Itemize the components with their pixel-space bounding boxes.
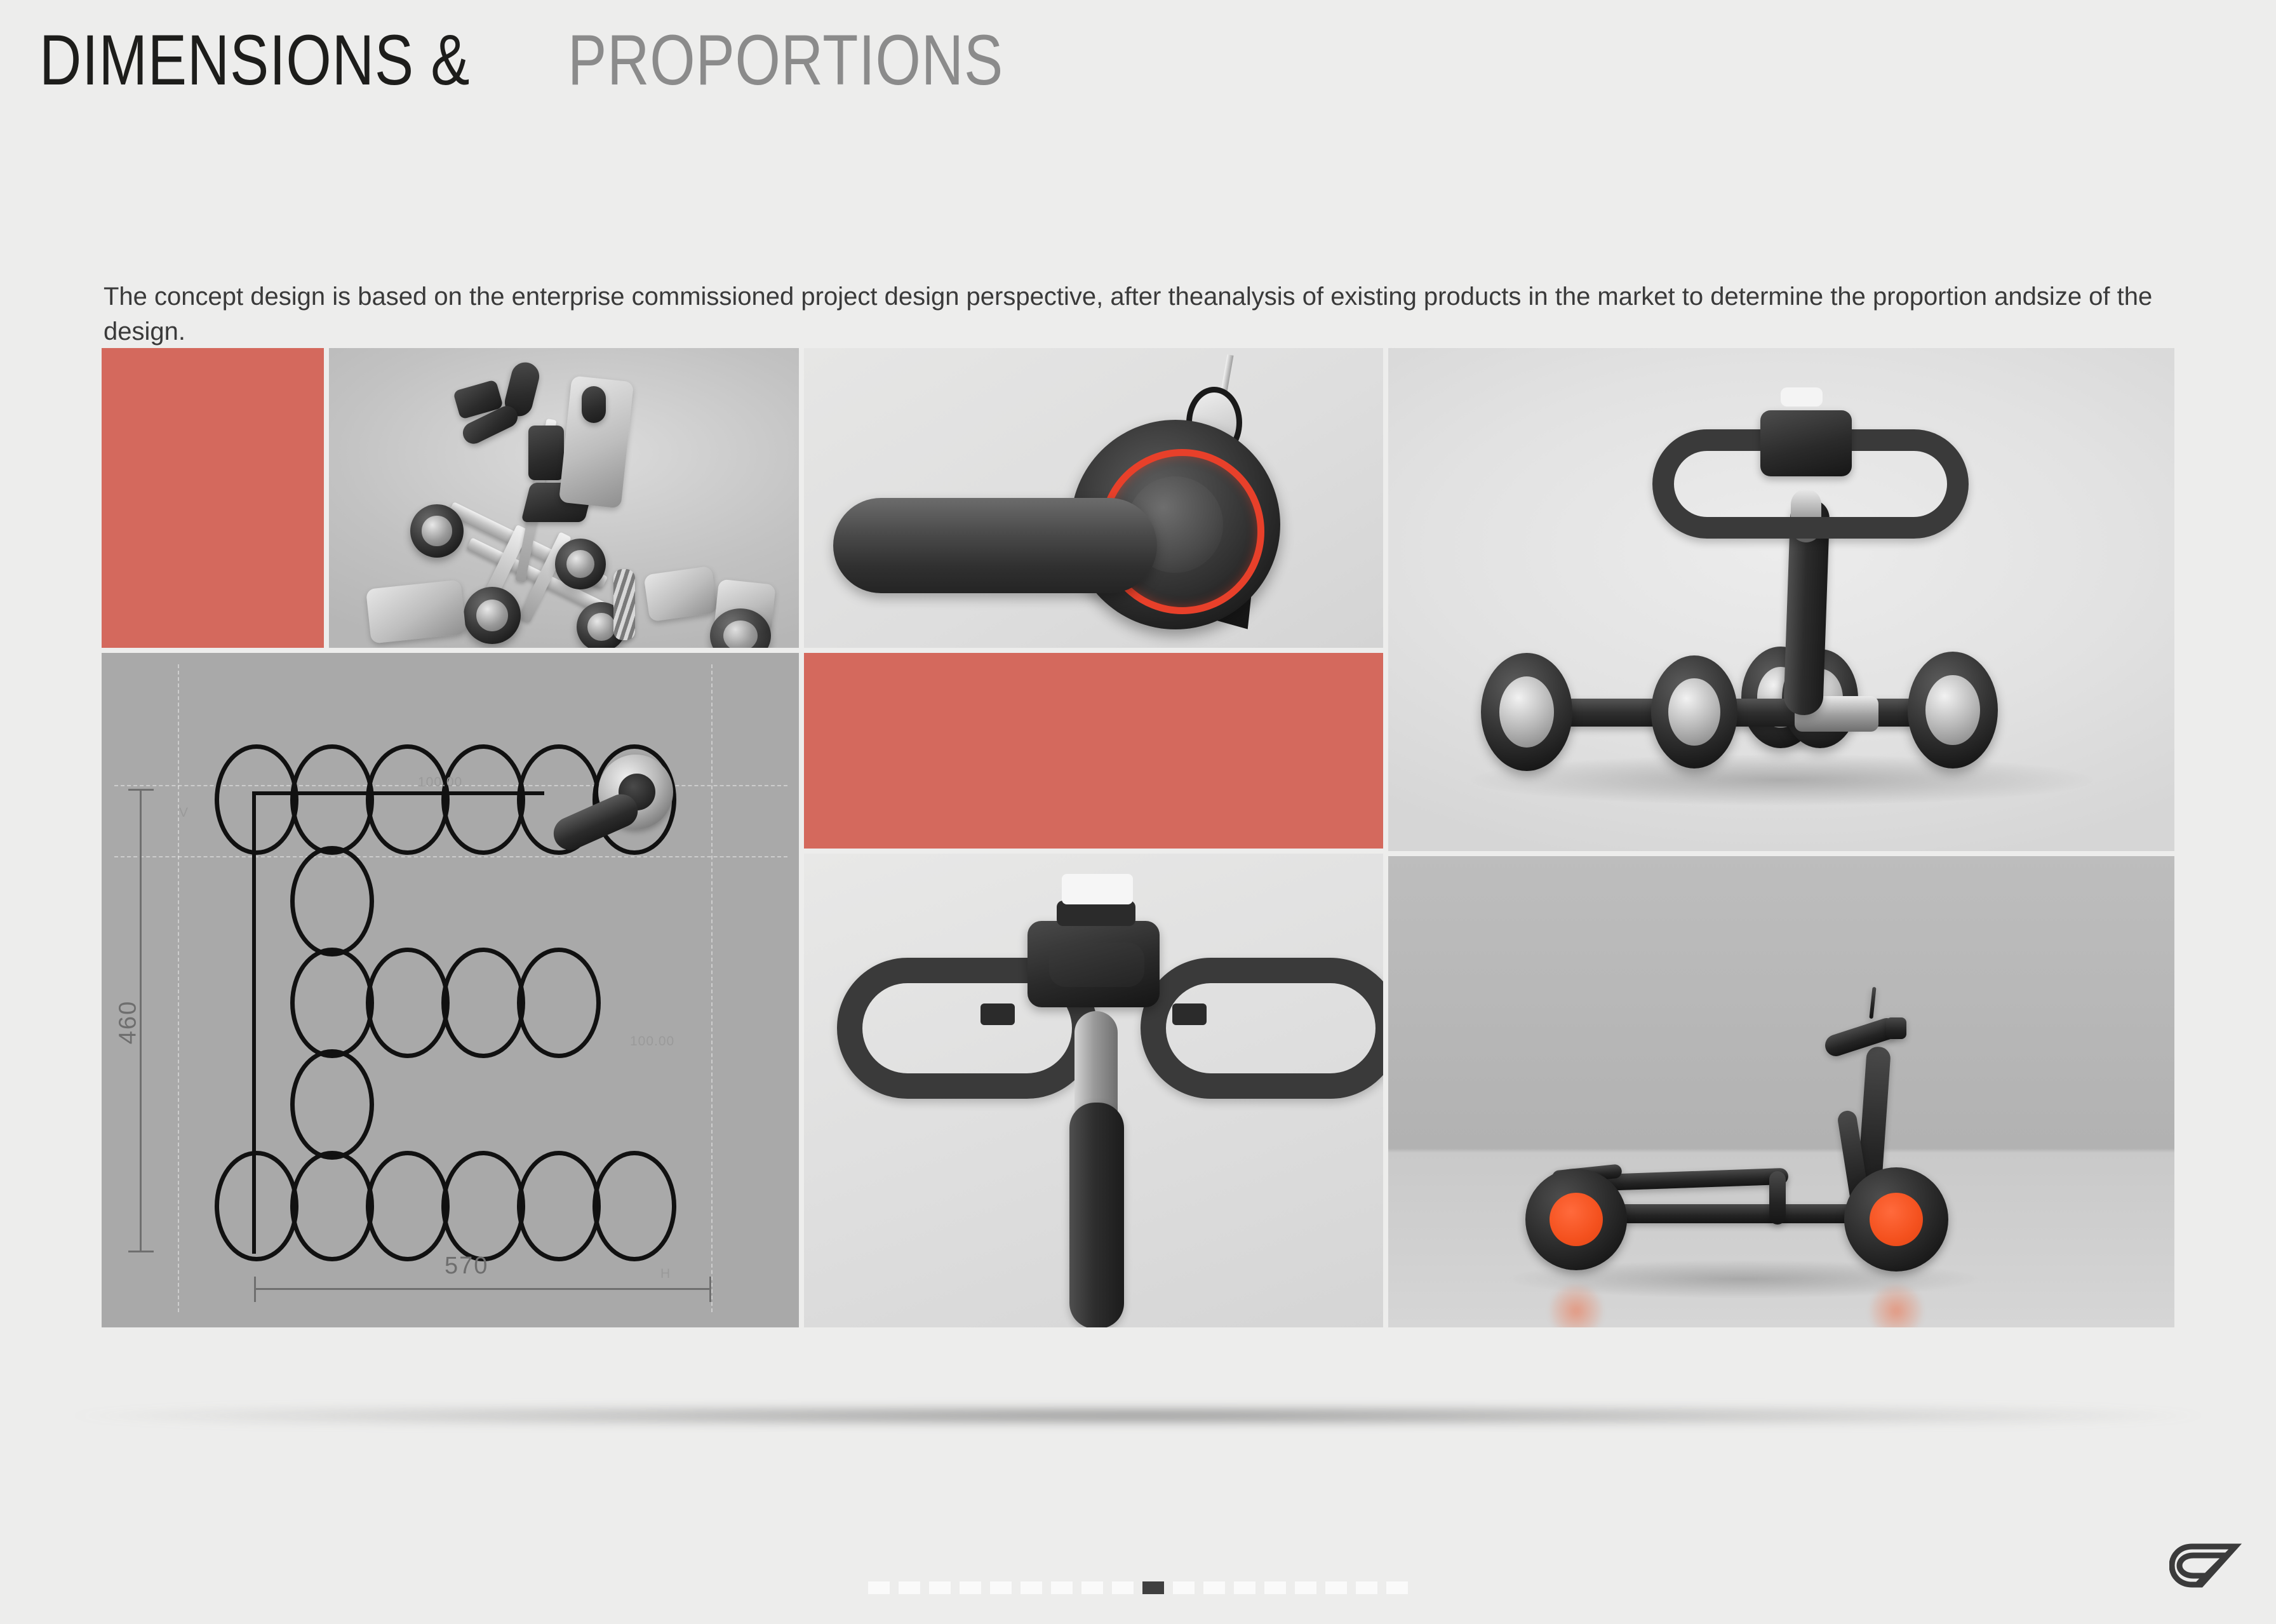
seat-back <box>528 426 564 480</box>
fender-part <box>366 579 466 643</box>
deck <box>1614 1204 1875 1223</box>
head-unit <box>1760 410 1852 476</box>
pagination-dot[interactable] <box>929 1581 951 1594</box>
proportion-circle <box>517 1151 601 1261</box>
pagination-dot[interactable] <box>1173 1581 1195 1594</box>
scooter-side-view <box>1388 856 2174 1327</box>
wheel <box>555 539 606 589</box>
footer-divider-shadow <box>64 1407 2212 1424</box>
display-screen <box>1781 387 1823 406</box>
coral-block-center <box>804 653 1383 849</box>
panel-cutout <box>582 386 606 423</box>
wheel-front-right <box>1908 652 1998 768</box>
axis-label-v: V <box>179 805 189 821</box>
pagination-dot-active[interactable] <box>1142 1581 1164 1594</box>
brake-clip-left <box>981 1003 1015 1025</box>
proportion-circle <box>366 1151 450 1261</box>
dimension-tick <box>128 1251 154 1252</box>
dimension-label-height: 460 <box>115 984 142 1061</box>
pagination-dot[interactable] <box>1112 1581 1134 1594</box>
pagination-dot[interactable] <box>899 1581 920 1594</box>
dimension-tick <box>709 1277 711 1302</box>
proportion-circle <box>290 744 374 855</box>
dimension-tick <box>128 789 154 791</box>
wheel-hub-rear <box>1550 1193 1603 1246</box>
hub-pad <box>1049 943 1144 987</box>
pagination-dot[interactable] <box>1021 1581 1042 1594</box>
pagination-dot[interactable] <box>868 1581 890 1594</box>
pagination-dot[interactable] <box>1386 1581 1408 1594</box>
brake-clip-right <box>1172 1003 1207 1025</box>
dimension-label-width: 570 <box>445 1252 488 1280</box>
pagination-dot[interactable] <box>1234 1581 1255 1594</box>
pagination-dot[interactable] <box>1295 1581 1316 1594</box>
wheel <box>410 504 464 558</box>
tick-label-right: 100.00 <box>630 1034 674 1049</box>
throttle-disc <box>1886 1017 1906 1039</box>
construction-line-v <box>252 791 256 1254</box>
brand-swoosh-logo <box>2169 1536 2246 1595</box>
image-mosaic: 460 570 100.00 100.00 V H <box>102 348 2174 1327</box>
proportion-circle <box>441 948 525 1058</box>
throttle-grip-closeup <box>804 348 1383 648</box>
wheel-mid-left <box>1651 655 1737 768</box>
cover-panel <box>643 566 718 622</box>
proportion-circle <box>441 1151 525 1261</box>
proportion-circle <box>290 846 374 956</box>
dimension-tick <box>254 1277 256 1302</box>
suspension-spring <box>613 569 635 640</box>
render-stage <box>1388 856 2174 1327</box>
pagination-dot[interactable] <box>1325 1581 1347 1594</box>
pagination-dot[interactable] <box>1203 1581 1225 1594</box>
proportion-circle <box>366 948 450 1058</box>
page-title: DIMENSIONS & PROPORTIONS <box>39 23 1099 98</box>
guide-line-h <box>114 856 787 857</box>
seat-support <box>1769 1171 1786 1225</box>
pagination-dot[interactable] <box>1081 1581 1103 1594</box>
render-stage <box>329 348 799 648</box>
blueprint-stage: 460 570 100.00 100.00 V H <box>102 653 799 1327</box>
proportion-circle <box>215 744 298 855</box>
slide-pagination[interactable] <box>0 1581 2276 1594</box>
axis-label-h: H <box>660 1266 671 1282</box>
proportion-blueprint: 460 570 100.00 100.00 V H <box>102 653 799 1327</box>
display-screen <box>1062 874 1133 904</box>
guide-line-v <box>178 664 179 1312</box>
proportion-circle <box>517 948 601 1058</box>
proportion-circle <box>290 1151 374 1261</box>
mount-bracket <box>1057 901 1135 926</box>
pagination-dot[interactable] <box>1356 1581 1377 1594</box>
dimension-line-horizontal <box>254 1288 711 1290</box>
proportion-circle <box>290 948 374 1058</box>
guide-line-v <box>711 664 713 1312</box>
page-title-secondary: PROPORTIONS <box>568 23 1003 98</box>
handlebar-loop-right <box>1141 958 1383 1099</box>
coral-block-upper-left <box>102 348 324 648</box>
grip-inset-render <box>546 755 673 829</box>
pagination-dot[interactable] <box>960 1581 981 1594</box>
wheel <box>464 587 521 644</box>
seat-rail <box>1598 1168 1789 1191</box>
handlebar-front-view <box>804 854 1383 1327</box>
proportion-circle <box>441 744 525 855</box>
render-stage <box>1388 348 2174 851</box>
render-stage <box>804 854 1383 1327</box>
tick-label-top: 100.00 <box>418 775 462 790</box>
proportion-circle <box>290 1049 374 1160</box>
ground-shadow <box>1471 755 2093 805</box>
render-stage <box>804 348 1383 648</box>
proportion-circle <box>592 1151 676 1261</box>
handlebar-grip <box>833 498 1158 593</box>
scooter-front-view <box>1388 348 2174 851</box>
pagination-dot[interactable] <box>990 1581 1012 1594</box>
construction-line-h <box>252 791 544 795</box>
wheel-front-left <box>1481 653 1572 771</box>
proportion-circle <box>215 1151 298 1261</box>
steering-post <box>1069 1103 1124 1327</box>
page-title-primary: DIMENSIONS & <box>39 23 470 98</box>
proportion-circle <box>366 744 450 855</box>
exploded-assembly-render <box>329 348 799 648</box>
release-pin <box>1869 987 1876 1019</box>
pagination-dot[interactable] <box>1264 1581 1286 1594</box>
intro-paragraph: The concept design is based on the enter… <box>104 279 2193 349</box>
pagination-dot[interactable] <box>1051 1581 1073 1594</box>
wheel-hub-front <box>1870 1193 1923 1246</box>
